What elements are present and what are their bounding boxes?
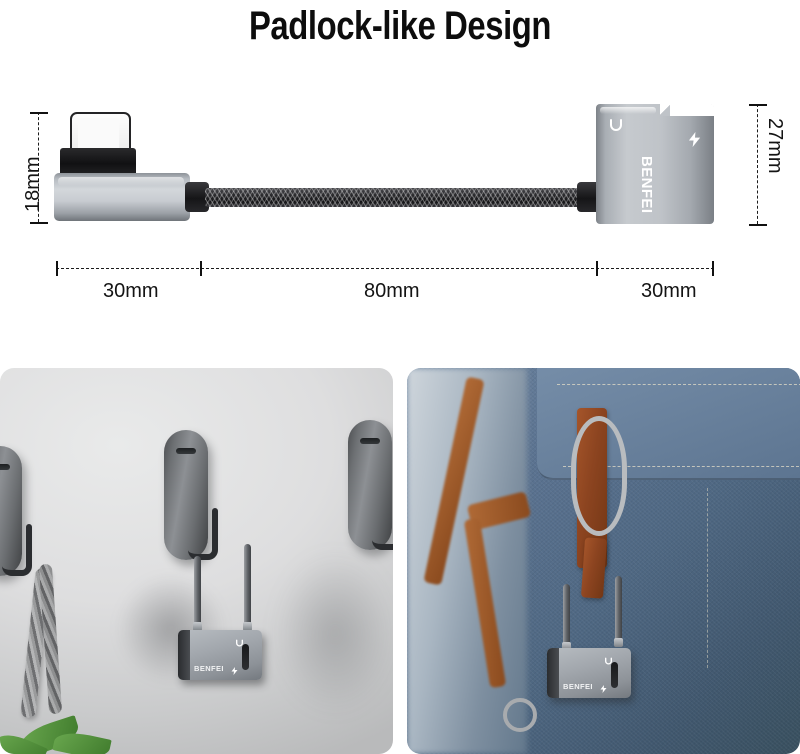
photo-wall-hooks: BENFEI [0, 368, 393, 754]
dimension-plug-height-label: 18mm [22, 156, 45, 212]
product-dimension-diagram: BENFEI 18mm 27mm 30mm 80mm 30mm [0, 60, 800, 360]
page-title: Padlock-like Design [72, 0, 728, 52]
lightning-bolt-icon [688, 132, 701, 147]
headphone-jack-icon [235, 634, 244, 643]
brand-label-photo-left: BENFEI [194, 664, 224, 673]
brand-label-photo-right: BENFEI [563, 682, 593, 691]
metal-ring [503, 698, 537, 732]
leather-loop-tail [581, 537, 607, 598]
device-left-edge [178, 630, 190, 680]
usb-c-port-slot [611, 662, 618, 688]
usb-c-port-slot [242, 644, 249, 670]
wall-shadow [250, 518, 393, 748]
brand-label-device: BENFEI [638, 156, 655, 213]
dimension-plug-body-length-label: 30mm [103, 280, 159, 303]
dimension-main-body-height [757, 104, 758, 224]
padlock-shadow [96, 554, 246, 704]
carabiner-clip[interactable] [571, 416, 627, 536]
photo-gallery: BENFEI [0, 368, 800, 754]
photo-denim-bag: BENFEI [407, 368, 800, 754]
adapter-main-body-sheen [600, 107, 656, 114]
adapter-main-body-notch [660, 104, 714, 116]
headphone-jack-icon [608, 116, 624, 132]
dimension-cable-length-label: 80mm [364, 280, 420, 303]
lightning-bolt-icon [600, 680, 607, 688]
dimension-main-body-height-label: 27mm [763, 118, 786, 174]
device-left-edge [547, 648, 559, 698]
braided-cable [205, 188, 583, 207]
adapter-plug-body-sheen [58, 177, 184, 186]
dimension-main-body-length-label: 30mm [641, 280, 697, 303]
headphone-jack-icon [604, 652, 613, 661]
lightning-bolt-icon [231, 662, 238, 670]
dimension-baseline [56, 268, 714, 269]
infographic-page: Padlock-like Design BENFEI [0, 0, 800, 754]
usb-c-plug-base [60, 148, 136, 174]
